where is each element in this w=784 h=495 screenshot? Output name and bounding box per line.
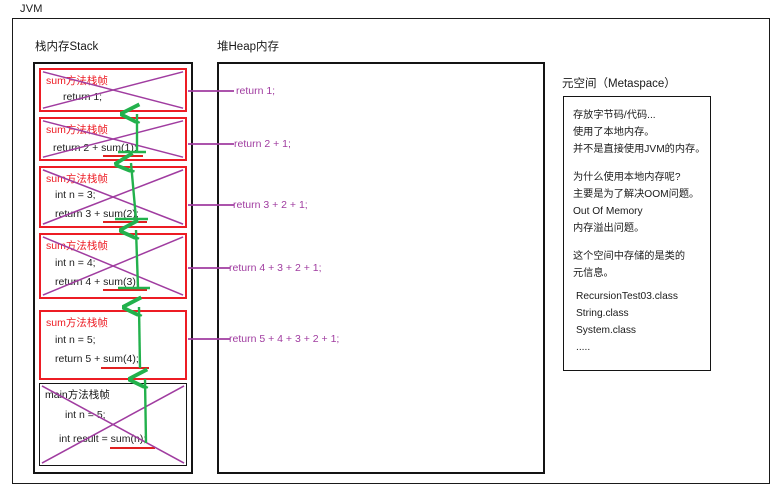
stack-frame-title: sum方法栈帧 bbox=[46, 315, 108, 330]
metaspace-class-entry: RecursionTest03.class bbox=[573, 288, 702, 305]
stack-section-label: 栈内存Stack bbox=[35, 38, 98, 54]
stack-frame-sum-4[interactable]: sum方法栈帧 int n = 4; return 4 + sum(3); bbox=[39, 233, 187, 299]
stack-frame-code-line: return 3 + sum(2); bbox=[55, 208, 139, 220]
metaspace-box: 存放字节码/代码... 使用了本地内存。 并不是直接使用JVM的内存。 为什么使… bbox=[563, 96, 711, 371]
stack-frame-code-line: return 4 + sum(3); bbox=[55, 276, 139, 288]
stack-frame-code-line: int n = 4; bbox=[55, 257, 96, 269]
stack-frame-code-line: int result = sum(n); bbox=[59, 433, 146, 445]
metaspace-spacer bbox=[573, 237, 702, 248]
stack-frame-code-line: int n = 3; bbox=[55, 189, 96, 201]
frame-call-underline bbox=[103, 289, 147, 291]
metaspace-line: 这个空间中存储的是类的 bbox=[573, 248, 702, 265]
metaspace-section-label: 元空间（Metaspace） bbox=[562, 75, 676, 91]
heap-section-label: 堆Heap内存 bbox=[217, 38, 279, 54]
metaspace-line: 主要是为了解决OOM问题。 bbox=[573, 186, 702, 203]
stack-frame-code-line: return 1; bbox=[63, 91, 102, 103]
metaspace-class-entry: System.class bbox=[573, 322, 702, 339]
metaspace-line: 使用了本地内存。 bbox=[573, 124, 702, 141]
heap-return-text-5: return 5 + 4 + 3 + 2 + 1; bbox=[229, 333, 339, 345]
stack-frame-code-line: return 2 + sum(1); bbox=[53, 142, 137, 154]
stack-frame-main[interactable]: main方法栈帧 int n = 5; int result = sum(n); bbox=[39, 383, 187, 466]
metaspace-class-entry: ..... bbox=[573, 339, 702, 356]
frame-call-underline bbox=[103, 221, 147, 223]
stack-frame-code-line: return 5 + sum(4); bbox=[55, 353, 139, 365]
stack-frame-title: main方法栈帧 bbox=[45, 387, 110, 402]
metaspace-line: 为什么使用本地内存呢? bbox=[573, 169, 702, 186]
metaspace-line: 内存溢出问题。 bbox=[573, 220, 702, 237]
frame-call-underline bbox=[101, 367, 149, 369]
metaspace-line: 元信息。 bbox=[573, 265, 702, 282]
metaspace-class-entry: String.class bbox=[573, 305, 702, 322]
stack-frame-code-line: int n = 5; bbox=[65, 409, 106, 421]
heap-return-text-2: return 2 + 1; bbox=[234, 138, 291, 150]
stack-frame-title: sum方法栈帧 bbox=[46, 171, 108, 186]
metaspace-line: 存放字节码/代码... bbox=[573, 107, 702, 124]
heap-return-text-4: return 4 + 3 + 2 + 1; bbox=[229, 262, 322, 274]
metaspace-line: 并不是直接使用JVM的内存。 bbox=[573, 141, 702, 158]
frame-call-underline bbox=[103, 155, 143, 157]
stack-frame-code-line: int n = 5; bbox=[55, 334, 96, 346]
stack-frame-sum-3[interactable]: sum方法栈帧 int n = 3; return 3 + sum(2); bbox=[39, 166, 187, 228]
stack-frame-title: sum方法栈帧 bbox=[46, 73, 108, 88]
stack-frame-sum-2[interactable]: sum方法栈帧 return 2 + sum(1); bbox=[39, 117, 187, 161]
heap-return-text-1: return 1; bbox=[236, 85, 275, 97]
metaspace-spacer bbox=[573, 158, 702, 169]
stack-frame-title: sum方法栈帧 bbox=[46, 238, 108, 253]
metaspace-line: Out Of Memory bbox=[573, 203, 702, 220]
heap-return-text-3: return 3 + 2 + 1; bbox=[233, 199, 308, 211]
frame-call-underline bbox=[110, 447, 155, 449]
stack-frame-sum-5[interactable]: sum方法栈帧 int n = 5; return 5 + sum(4); bbox=[39, 310, 187, 380]
stack-frame-title: sum方法栈帧 bbox=[46, 122, 108, 137]
page-title: JVM bbox=[20, 3, 43, 15]
stack-frame-sum-1[interactable]: sum方法栈帧 return 1; bbox=[39, 68, 187, 112]
